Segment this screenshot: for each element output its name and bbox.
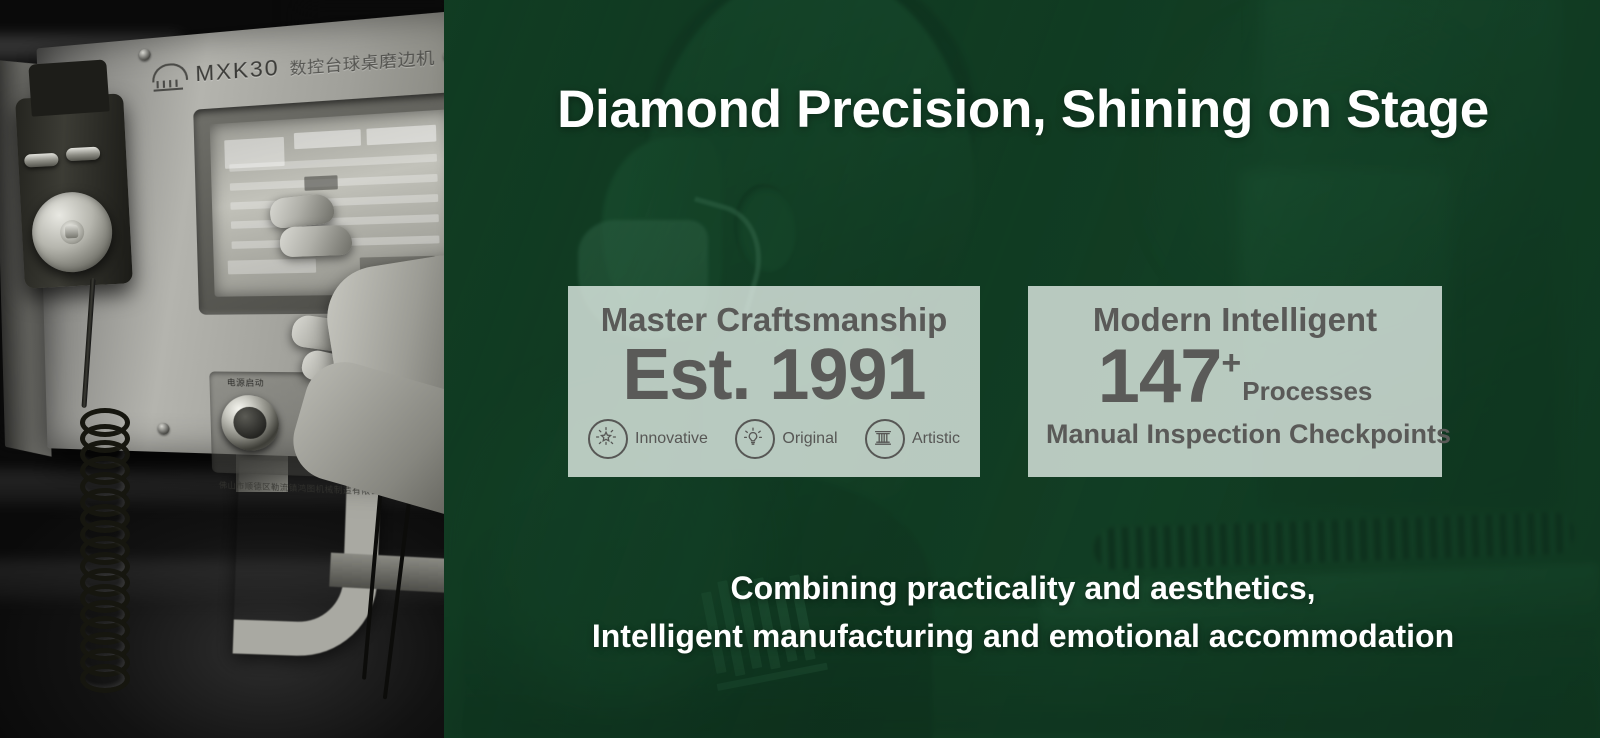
index-finger (269, 193, 336, 230)
trait-artistic-label: Artistic (912, 430, 960, 448)
machine-arm-horizontal (329, 553, 444, 594)
handwheel-pin (65, 225, 79, 239)
intelligent-card: Modern Intelligent 147 + Processes Manua… (1028, 286, 1442, 477)
trait-innovative: Innovative (588, 419, 708, 459)
brand-logo-icon (150, 60, 187, 94)
coiled-cable (80, 408, 126, 708)
process-count-unit: Processes (1242, 376, 1372, 415)
established-year: Est. 1991 (586, 340, 962, 411)
trait-artistic: Artistic (865, 419, 960, 459)
trait-innovative-label: Innovative (635, 430, 708, 448)
column-pillar-icon (865, 419, 905, 459)
trait-original: Original (735, 419, 837, 459)
handwheel-knob-right[interactable] (66, 147, 101, 162)
stat-card-row: Master Craftsmanship Est. 1991 Innovativ… (568, 286, 1564, 477)
lightbulb-icon (735, 419, 775, 459)
middle-finger (279, 225, 352, 257)
trait-original-label: Original (782, 430, 837, 448)
green-content-panel: Diamond Precision, Shining on Stage Mast… (444, 0, 1600, 738)
machine-model-label: MXK30 (195, 56, 280, 88)
process-count-line: 147 + Processes (1046, 340, 1424, 414)
power-start-label: 电源启动 (227, 377, 265, 389)
operator-hand (276, 186, 444, 476)
page-title: Diamond Precision, Shining on Stage (468, 82, 1578, 138)
handwheel-knob-left[interactable] (24, 153, 59, 168)
process-count-plus: + (1221, 346, 1241, 380)
handwheel-dial[interactable] (30, 190, 114, 274)
craftsmanship-card-title: Master Craftsmanship (586, 302, 962, 338)
promo-banner: MXK30 数控台球桌磨边机 (0, 0, 1600, 738)
handwheel-bracket (28, 59, 109, 116)
tagline-line-2: Intelligent manufacturing and emotional … (468, 612, 1578, 660)
machine-name-cn-label: 数控台球桌磨边机 (289, 45, 435, 79)
machine-nameplate: MXK30 数控台球桌磨边机 (149, 29, 444, 102)
handwheel-pendant-body (15, 93, 133, 288)
power-start-button[interactable] (221, 395, 280, 452)
machine-operator-photo: MXK30 数控台球桌磨边机 (0, 0, 444, 738)
trait-row: Innovative Original (586, 419, 962, 459)
intelligent-card-title: Modern Intelligent (1046, 302, 1424, 338)
sparkle-star-icon (588, 419, 628, 459)
process-count: 147 (1098, 340, 1222, 414)
tagline: Combining practicality and aesthetics, I… (468, 564, 1578, 660)
tagline-line-1: Combining practicality and aesthetics, (468, 564, 1578, 612)
inspection-caption: Manual Inspection Checkpoints (1046, 419, 1424, 450)
craftsmanship-card: Master Craftsmanship Est. 1991 Innovativ… (568, 286, 980, 477)
